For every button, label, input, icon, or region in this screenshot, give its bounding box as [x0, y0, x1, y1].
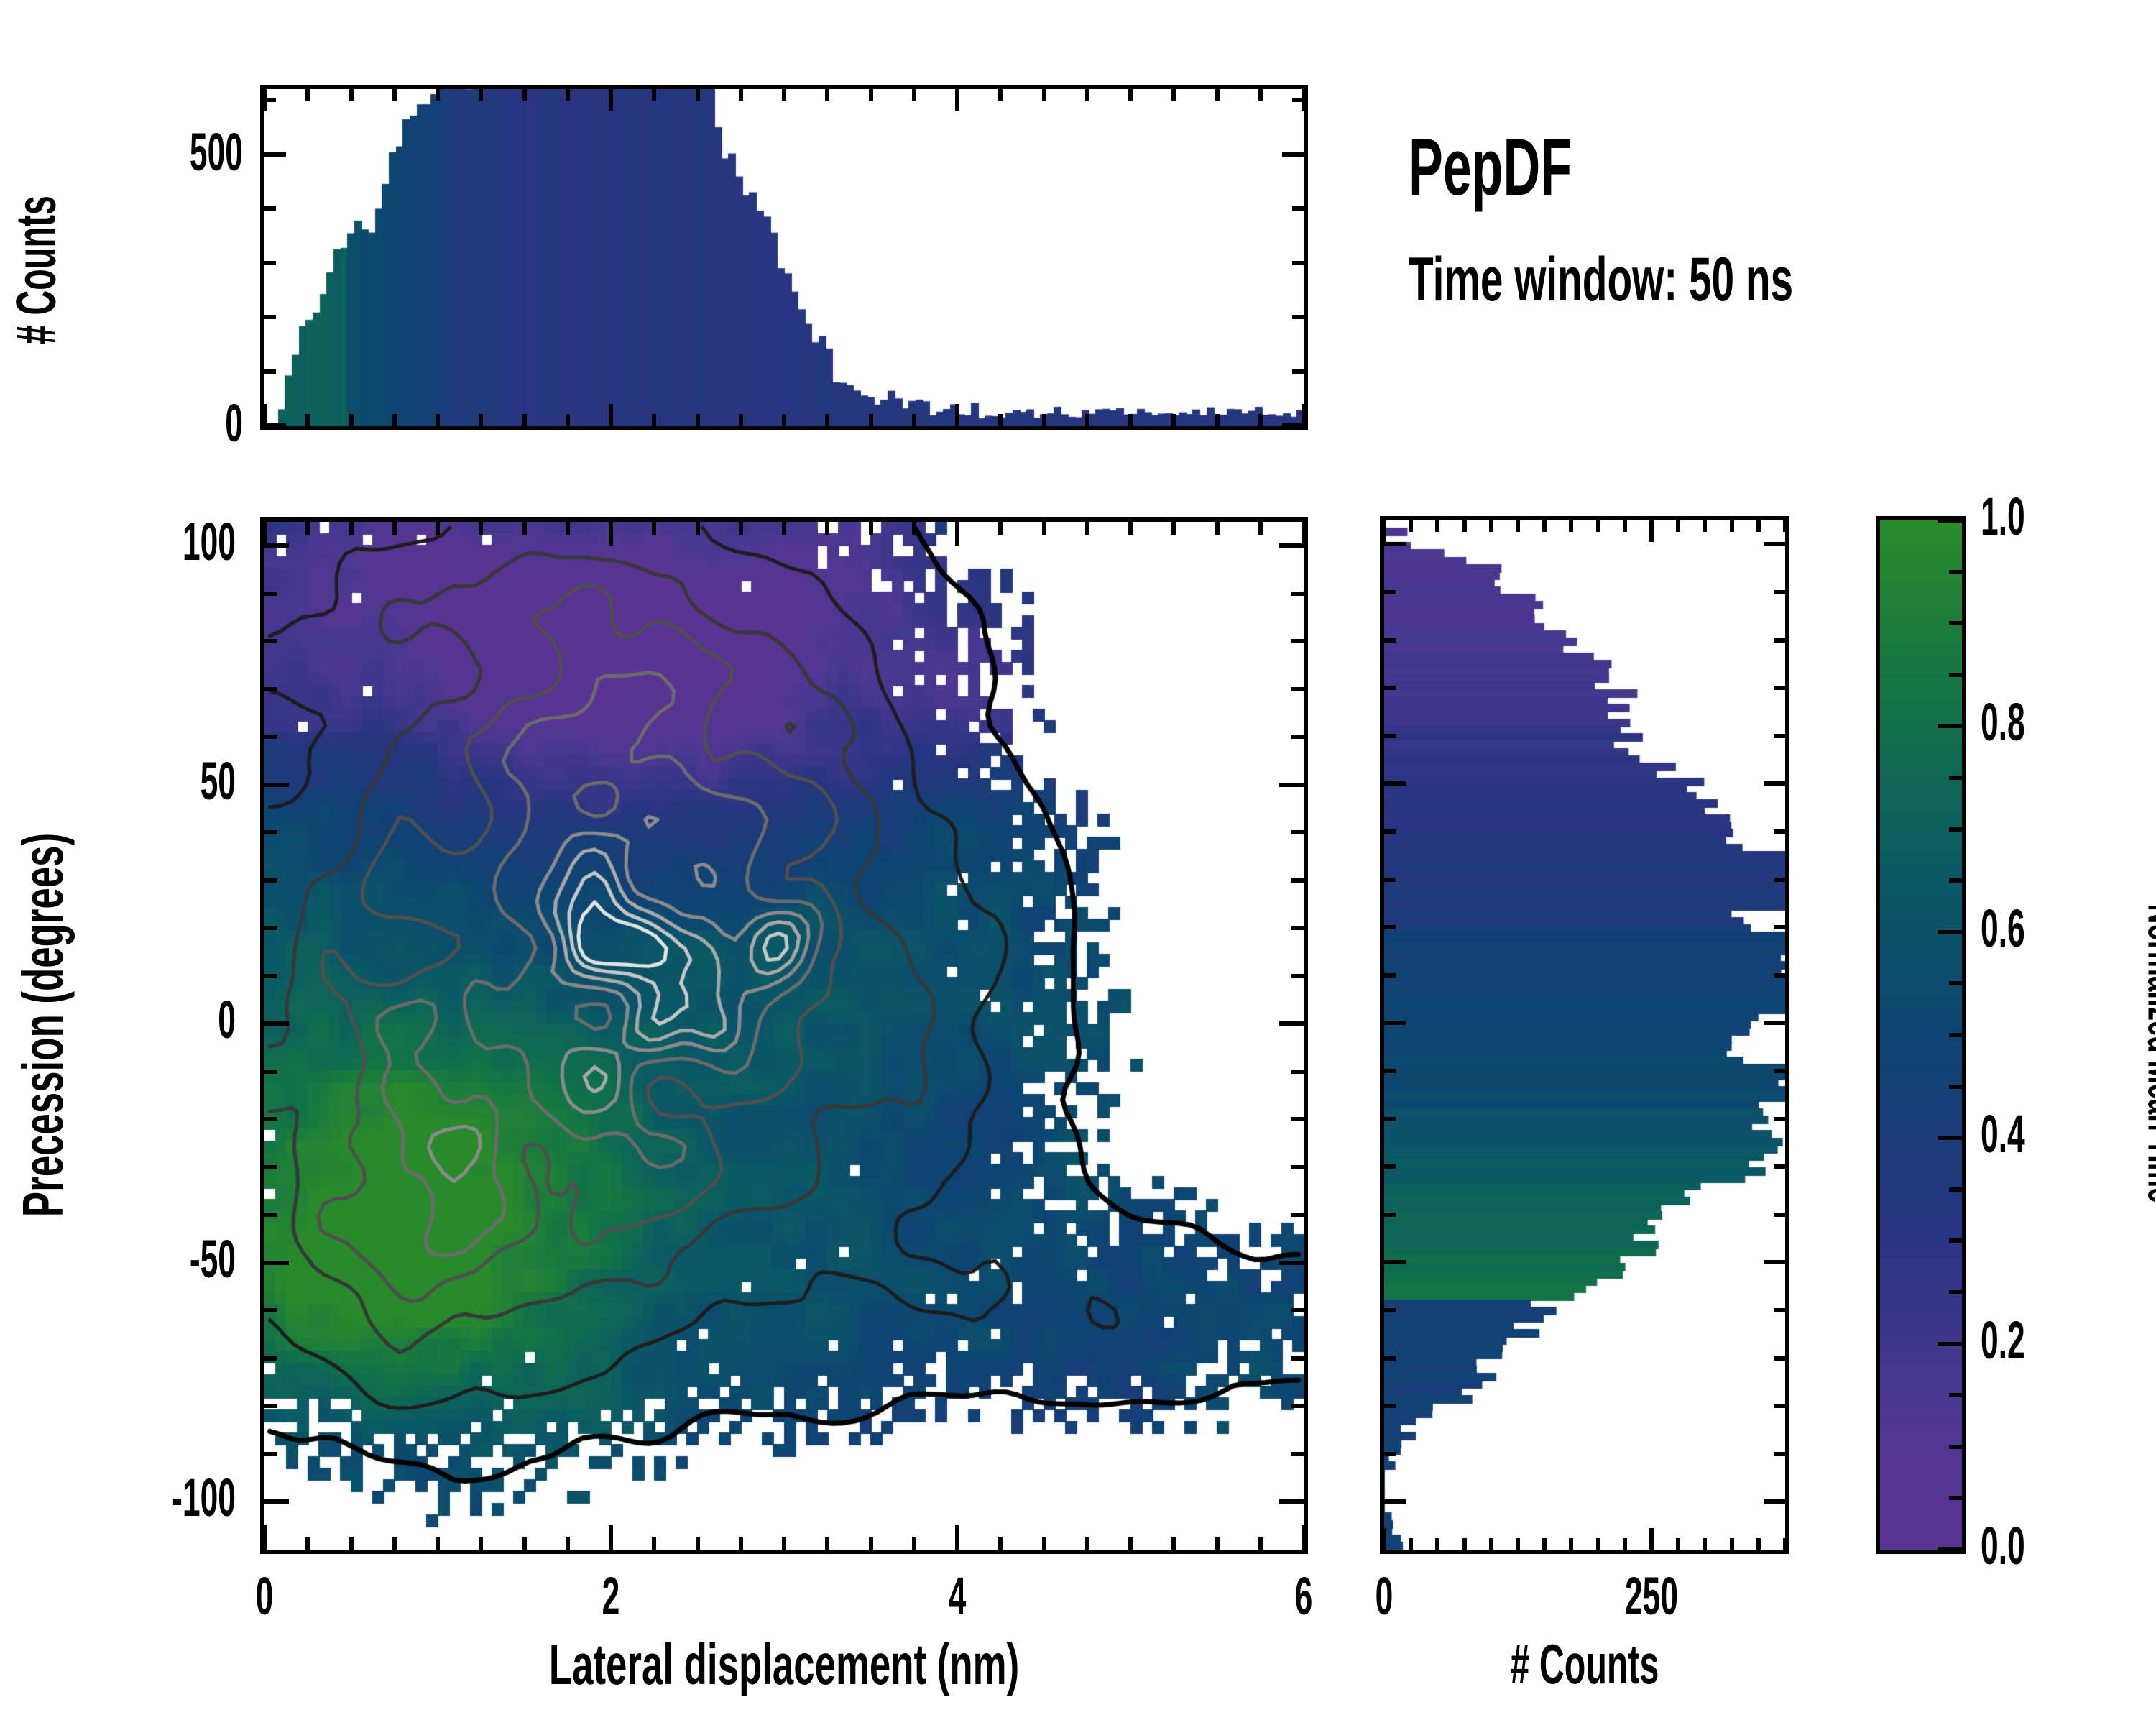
axis-tick — [998, 522, 1003, 535]
axis-tick — [825, 89, 829, 101]
axis-tick — [1949, 1238, 1962, 1243]
axis-tick — [349, 1537, 354, 1550]
axis-tick — [392, 522, 397, 535]
axis-tick — [825, 414, 829, 425]
axis-tick — [955, 89, 959, 111]
axis-tick — [1291, 1452, 1304, 1456]
axis-tick — [479, 89, 483, 101]
axis-tick — [1085, 414, 1089, 425]
axis-tick — [1596, 1538, 1600, 1550]
axis-tick — [739, 414, 743, 425]
axis-tick — [1569, 1538, 1573, 1550]
axis-tick — [782, 414, 786, 425]
axis-tick — [1774, 829, 1785, 834]
axis-tick — [1291, 1213, 1304, 1217]
axis-tick — [1384, 686, 1396, 690]
axis-tick — [1462, 1538, 1467, 1550]
axis-tick — [1783, 1538, 1787, 1550]
axis-tick — [1949, 827, 1962, 832]
axis-tick — [1516, 1538, 1520, 1550]
axis-tick — [305, 1537, 310, 1550]
axis-tick — [1085, 1537, 1089, 1550]
axis-tick — [609, 404, 613, 425]
axis-tick — [1279, 543, 1304, 548]
axis-tick — [1384, 973, 1396, 977]
axis-tick — [1382, 520, 1386, 542]
axis-tick — [652, 522, 656, 535]
axis-tick — [739, 89, 743, 101]
axis-tick — [1756, 1538, 1761, 1550]
axis-tick — [1649, 1528, 1654, 1550]
axis-tick — [1774, 878, 1785, 882]
axis-tick — [998, 1537, 1003, 1550]
axis-tick — [479, 1537, 483, 1550]
axis-tick — [912, 1537, 916, 1550]
axis-tick — [1409, 520, 1413, 532]
axis-tick — [522, 414, 527, 425]
axis-tick — [566, 1537, 570, 1550]
axis-tick — [264, 926, 277, 930]
axis-tick — [264, 974, 277, 978]
axis-tick — [1938, 1547, 1962, 1552]
axis-tick — [1949, 878, 1962, 883]
axis-tick — [1302, 522, 1306, 546]
axis-tick — [955, 404, 959, 425]
axis-tick — [264, 98, 276, 102]
axis-tick — [262, 522, 267, 546]
axis-tick — [1291, 1356, 1304, 1361]
axis-tick — [1292, 369, 1304, 374]
axis-tick — [869, 522, 873, 535]
axis-tick-label: 0.2 — [1981, 1310, 2153, 1371]
axis-tick — [1676, 520, 1680, 532]
axis-tick — [1291, 1308, 1304, 1312]
axis-tick — [1384, 1308, 1396, 1312]
axis-tick — [264, 1499, 289, 1504]
axis-tick — [696, 522, 700, 535]
axis-tick — [609, 522, 613, 546]
axis-tick — [1291, 735, 1304, 739]
axis-tick — [1279, 1261, 1304, 1265]
axis-tick — [1774, 1452, 1785, 1456]
axis-tick — [1384, 1260, 1406, 1264]
axis-tick — [1128, 89, 1133, 101]
axis-tick — [1703, 1538, 1707, 1550]
axis-tick — [264, 830, 277, 834]
axis-tick — [479, 414, 483, 425]
axis-tick — [264, 369, 276, 374]
axis-tick — [264, 735, 277, 739]
axis-tick — [264, 1117, 277, 1121]
axis-tick — [392, 414, 397, 425]
axis-tick — [264, 423, 286, 428]
density-contours-canvas — [264, 522, 1304, 1550]
axis-tick — [1291, 1404, 1304, 1408]
axis-tick — [305, 522, 310, 535]
axis-tick — [264, 687, 277, 691]
axis-tick — [1489, 520, 1493, 532]
axis-tick-label: 4 — [871, 1565, 1044, 1627]
axis-tick — [1384, 1117, 1396, 1121]
axis-tick — [1384, 1499, 1406, 1504]
axis-tick — [1291, 592, 1304, 596]
axis-tick — [1258, 414, 1263, 425]
axis-tick — [1384, 542, 1406, 546]
axis-tick — [1085, 522, 1089, 535]
axis-tick — [264, 261, 276, 265]
axis-tick — [1949, 673, 1962, 677]
axis-tick — [1409, 1538, 1413, 1550]
axis-tick — [1774, 686, 1785, 690]
axis-tick — [1042, 414, 1046, 425]
axis-tick — [1949, 1393, 1962, 1397]
axis-tick — [1291, 878, 1304, 883]
right-histogram-panel — [1380, 516, 1789, 1554]
axis-tick — [1291, 1117, 1304, 1121]
axis-tick — [349, 522, 354, 535]
axis-tick — [1302, 1525, 1306, 1550]
axis-tick — [696, 414, 700, 425]
axis-tick — [1774, 973, 1785, 977]
axis-tick-label: 0.8 — [1981, 691, 2153, 753]
axis-tick — [1774, 1117, 1785, 1121]
axis-tick — [652, 89, 656, 101]
axis-tick-label: 0 — [62, 392, 243, 454]
axis-tick — [1949, 981, 1962, 985]
axis-tick — [1384, 590, 1396, 594]
axis-tick — [264, 1404, 277, 1408]
axis-tick — [392, 1537, 397, 1550]
top-histogram-canvas — [264, 89, 1304, 425]
axis-tick — [1128, 1537, 1133, 1550]
axis-tick-label: 0.0 — [1981, 1515, 2153, 1576]
right-histogram-canvas — [1384, 520, 1785, 1550]
colorbar-label: Normalized Mean Time — [2138, 831, 2156, 1276]
axis-tick — [1384, 878, 1396, 882]
axis-tick — [305, 89, 310, 101]
axis-tick — [1384, 734, 1396, 738]
main-heatmap-panel — [260, 517, 1308, 1554]
axis-tick — [264, 152, 286, 157]
axis-tick — [1291, 1165, 1304, 1169]
axis-tick — [912, 89, 916, 101]
axis-tick-label: 500 — [62, 121, 243, 183]
axis-tick — [1171, 1537, 1176, 1550]
axis-tick — [1938, 1136, 1962, 1140]
figure-title: PepDF — [1409, 121, 1572, 213]
axis-tick — [1949, 1187, 1962, 1192]
axis-tick — [1384, 1164, 1396, 1169]
axis-tick — [609, 1525, 613, 1550]
axis-tick — [1569, 520, 1573, 532]
axis-tick — [696, 1537, 700, 1550]
axis-tick — [869, 89, 873, 101]
axis-tick — [1542, 1538, 1547, 1550]
axis-tick — [264, 206, 276, 211]
axis-tick — [1542, 520, 1547, 532]
axis-tick — [349, 414, 354, 425]
axis-tick — [1596, 520, 1600, 532]
axis-tick — [1774, 1404, 1785, 1408]
axis-tick — [1774, 590, 1785, 594]
axis-tick — [1042, 89, 1046, 101]
axis-tick-label: -100 — [55, 1467, 236, 1528]
axis-tick — [436, 89, 440, 101]
axis-tick — [392, 89, 397, 101]
axis-tick — [1384, 638, 1396, 643]
axis-tick — [1649, 520, 1654, 542]
axis-tick — [1042, 1537, 1046, 1550]
axis-tick — [264, 1165, 277, 1169]
axis-tick — [1384, 1213, 1396, 1217]
axis-tick — [1258, 89, 1263, 101]
axis-tick — [869, 414, 873, 425]
axis-tick — [825, 522, 829, 535]
axis-tick — [1291, 639, 1304, 643]
axis-tick — [264, 592, 277, 596]
top-histogram-ylabel: # Counts — [4, 101, 69, 439]
axis-tick-label: 1.0 — [1981, 486, 2153, 547]
axis-tick — [1042, 522, 1046, 535]
axis-tick — [1292, 206, 1304, 211]
axis-tick — [1215, 522, 1220, 535]
axis-tick — [522, 522, 527, 535]
axis-tick — [1489, 1538, 1493, 1550]
axis-tick — [264, 1308, 277, 1312]
axis-tick — [1949, 1290, 1962, 1294]
axis-tick — [262, 1525, 267, 1550]
axis-tick — [1730, 520, 1734, 532]
axis-tick — [1949, 1496, 1962, 1500]
axis-tick — [1764, 542, 1785, 546]
axis-tick — [1282, 152, 1304, 157]
axis-tick — [436, 1537, 440, 1550]
axis-tick — [1703, 520, 1707, 532]
axis-tick — [782, 89, 786, 101]
axis-tick — [1949, 1085, 1962, 1089]
axis-tick — [1291, 926, 1304, 930]
axis-tick-label: 0 — [1298, 1565, 1470, 1627]
top-histogram-panel — [260, 85, 1308, 430]
axis-tick — [1938, 930, 1962, 934]
axis-tick — [1384, 1021, 1406, 1025]
axis-tick — [1292, 98, 1304, 102]
axis-tick — [1171, 522, 1176, 535]
axis-tick — [1171, 89, 1176, 101]
axis-tick — [1783, 520, 1787, 532]
axis-tick — [264, 783, 289, 787]
axis-tick — [1676, 1538, 1680, 1550]
axis-tick — [1623, 520, 1627, 532]
axis-tick — [566, 89, 570, 101]
axis-tick — [1949, 570, 1962, 574]
axis-tick — [1302, 404, 1306, 425]
axis-tick-label: 0.4 — [1981, 1103, 2153, 1164]
axis-tick — [264, 1021, 289, 1026]
axis-tick — [1382, 1528, 1386, 1550]
axis-tick-label: 0 — [178, 1565, 351, 1627]
axis-tick — [869, 1537, 873, 1550]
axis-tick — [305, 414, 310, 425]
axis-tick — [264, 1356, 277, 1361]
axis-tick — [696, 89, 700, 101]
axis-tick — [1384, 1452, 1396, 1456]
axis-tick — [1949, 1033, 1962, 1037]
axis-tick — [1384, 1356, 1396, 1361]
axis-tick-label: 0.6 — [1981, 898, 2153, 959]
axis-tick — [1384, 1404, 1396, 1408]
axis-tick — [1764, 781, 1785, 786]
axis-tick — [1774, 1069, 1785, 1073]
axis-tick — [262, 404, 267, 425]
axis-tick — [349, 89, 354, 101]
axis-tick — [739, 1537, 743, 1550]
axis-tick — [1215, 414, 1220, 425]
axis-tick — [1279, 783, 1304, 787]
axis-tick-label: 50 — [55, 750, 236, 811]
figure-subtitle: Time window: 50 ns — [1409, 244, 1793, 316]
axis-tick — [1774, 1356, 1785, 1361]
axis-tick-label: 100 — [55, 511, 236, 572]
axis-tick — [264, 315, 276, 319]
axis-tick — [1435, 520, 1439, 532]
right-histogram-xlabel: # Counts — [1457, 1632, 1711, 1697]
axis-tick — [912, 522, 916, 535]
axis-tick — [955, 1525, 959, 1550]
axis-tick — [522, 1537, 527, 1550]
top-histogram-clip — [264, 89, 1304, 425]
axis-tick — [264, 543, 289, 548]
axis-tick — [652, 414, 656, 425]
axis-tick — [1435, 1538, 1439, 1550]
main-plot-ylabel: Precession (degrees) — [10, 693, 76, 1357]
axis-tick — [652, 1537, 656, 1550]
axis-tick — [998, 89, 1003, 101]
axis-tick — [522, 89, 527, 101]
axis-tick — [1291, 687, 1304, 691]
axis-tick — [1384, 781, 1406, 786]
axis-tick — [436, 522, 440, 535]
axis-tick-label: -50 — [55, 1228, 236, 1289]
axis-tick — [782, 522, 786, 535]
axis-tick — [739, 522, 743, 535]
axis-tick — [1384, 1069, 1396, 1073]
axis-tick — [479, 522, 483, 535]
main-plot-xlabel: Lateral displacement (nm) — [267, 1632, 1302, 1698]
axis-tick — [825, 1537, 829, 1550]
axis-tick — [955, 522, 959, 546]
axis-tick — [1938, 724, 1962, 728]
axis-tick — [609, 89, 613, 111]
axis-tick — [1774, 1164, 1785, 1169]
axis-tick — [264, 1452, 277, 1456]
axis-tick — [1774, 734, 1785, 738]
axis-tick — [1279, 1499, 1304, 1504]
axis-tick — [1949, 776, 1962, 780]
axis-tick — [1291, 974, 1304, 978]
axis-tick — [1949, 621, 1962, 625]
axis-tick — [1128, 414, 1133, 425]
axis-tick — [1128, 522, 1133, 535]
axis-tick — [1384, 829, 1396, 834]
axis-tick — [264, 1069, 277, 1074]
axis-tick — [1085, 89, 1089, 101]
axis-tick — [1623, 1538, 1627, 1550]
axis-tick — [1282, 423, 1304, 428]
axis-tick — [1774, 638, 1785, 643]
axis-tick — [1215, 89, 1220, 101]
axis-tick — [1292, 315, 1304, 319]
axis-tick — [998, 414, 1003, 425]
axis-tick — [566, 522, 570, 535]
axis-tick — [264, 639, 277, 643]
axis-tick — [1291, 830, 1304, 834]
axis-tick — [1292, 261, 1304, 265]
axis-tick — [1171, 414, 1176, 425]
axis-tick — [1291, 1069, 1304, 1074]
axis-tick — [264, 1213, 277, 1217]
main-heatmap-clip — [264, 522, 1304, 1550]
axis-tick — [1774, 1308, 1785, 1312]
axis-tick — [1215, 1537, 1220, 1550]
axis-tick — [264, 1261, 289, 1265]
axis-tick-label: 0 — [55, 989, 236, 1050]
axis-tick-label: 2 — [525, 1565, 697, 1627]
axis-tick — [1516, 520, 1520, 532]
axis-tick — [1764, 1499, 1785, 1504]
axis-tick — [1949, 1445, 1962, 1449]
axis-tick — [1258, 522, 1263, 535]
axis-tick — [264, 878, 277, 883]
axis-tick — [1938, 518, 1962, 523]
axis-tick-label: 250 — [1565, 1565, 1738, 1627]
right-histogram-clip — [1384, 520, 1785, 1550]
axis-tick — [1938, 1342, 1962, 1346]
axis-tick — [1279, 1021, 1304, 1026]
axis-tick — [436, 414, 440, 425]
axis-tick — [1462, 520, 1467, 532]
axis-tick — [1258, 1537, 1263, 1550]
axis-tick — [1730, 1538, 1734, 1550]
axis-tick — [1764, 1021, 1785, 1025]
axis-tick — [912, 414, 916, 425]
axis-tick — [782, 1537, 786, 1550]
axis-tick — [1774, 925, 1785, 929]
axis-tick — [566, 414, 570, 425]
axis-tick — [1384, 925, 1396, 929]
axis-tick — [1756, 520, 1761, 532]
axis-tick — [1764, 1260, 1785, 1264]
axis-tick — [1774, 1213, 1785, 1217]
